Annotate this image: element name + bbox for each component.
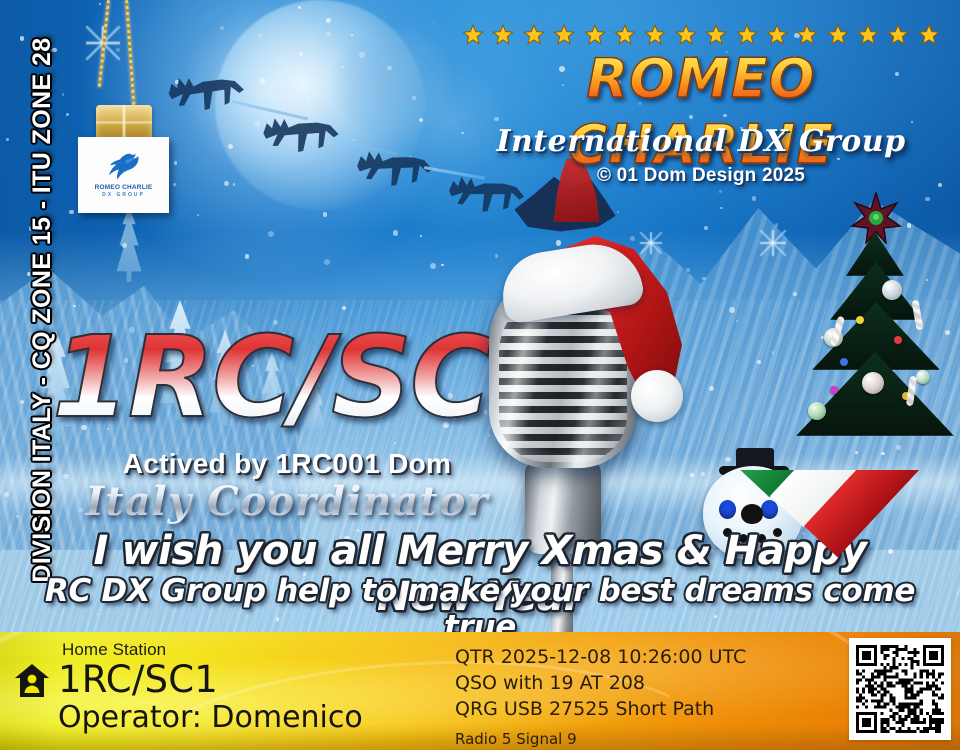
microphone-highlight (489, 272, 637, 468)
qr-code-icon[interactable] (849, 638, 951, 740)
qrg-line: QRG USB 27525 Short Path (455, 696, 845, 722)
sparkle-icon (760, 230, 786, 256)
star-icon (705, 24, 727, 46)
tree-bauble (808, 402, 826, 420)
christmas-tree (794, 196, 954, 446)
candy-cane-icon (911, 300, 923, 331)
qso-details: QTR 2025-12-08 10:26:00 UTC QSO with 19 … (455, 644, 845, 750)
tree-light (894, 336, 902, 344)
signal-report-line: Radio 5 Signal 9 (455, 726, 845, 750)
star-icon (736, 24, 758, 46)
star-icon (553, 24, 575, 46)
star-icon (857, 24, 879, 46)
tree-light (830, 386, 838, 394)
star-icon (675, 24, 697, 46)
star-icon (614, 24, 636, 46)
moon-secondary (333, 28, 453, 138)
qsl-card: DIVISION ITALY - CQ ZONE 15 - ITU ZONE 2… (0, 0, 960, 750)
star-icon (887, 24, 909, 46)
star-row (462, 22, 940, 48)
gold-ornament (96, 105, 152, 140)
club-logo-badge: ROMEO CHARLIE DX GROUP (78, 137, 169, 213)
star-icon (462, 24, 484, 46)
activated-by-text: Actived by 1RC001 Dom (52, 448, 522, 480)
star-icon (827, 24, 849, 46)
star-icon (523, 24, 545, 46)
star-icon (492, 24, 514, 46)
tree-light (840, 358, 848, 366)
dove-icon (104, 151, 144, 183)
santa-hat-pompom (631, 370, 683, 422)
home-icon (13, 662, 51, 700)
tree-light (856, 316, 864, 324)
star-icon (584, 24, 606, 46)
italian-flag-ribbon (700, 470, 960, 633)
qtr-line: QTR 2025-12-08 10:26:00 UTC (455, 644, 845, 670)
home-station-label: Home Station (62, 640, 166, 660)
logo-line2: DX GROUP (102, 191, 145, 199)
star-icon (918, 24, 940, 46)
tree-bauble (882, 280, 902, 300)
role-title: Italy Coordinator (52, 478, 522, 525)
tree-bauble (862, 372, 884, 394)
copyright-text: © 01 Dom Design 2025 (455, 165, 947, 187)
callsign-large: 1RC/SC1 (52, 318, 522, 438)
tree-bauble (916, 370, 930, 384)
star-icon (796, 24, 818, 46)
star-icon (766, 24, 788, 46)
operator-name: Operator: Domenico (58, 700, 363, 735)
qso-line: QSO with 19 AT 208 (455, 670, 845, 696)
star-icon (644, 24, 666, 46)
home-callsign: 1RC/SC1 (58, 658, 218, 701)
qr-code-graphic (856, 645, 944, 733)
brand-title: ROMEO CHARLIE (455, 46, 947, 116)
brand-subtitle: International DX Group (455, 124, 947, 159)
